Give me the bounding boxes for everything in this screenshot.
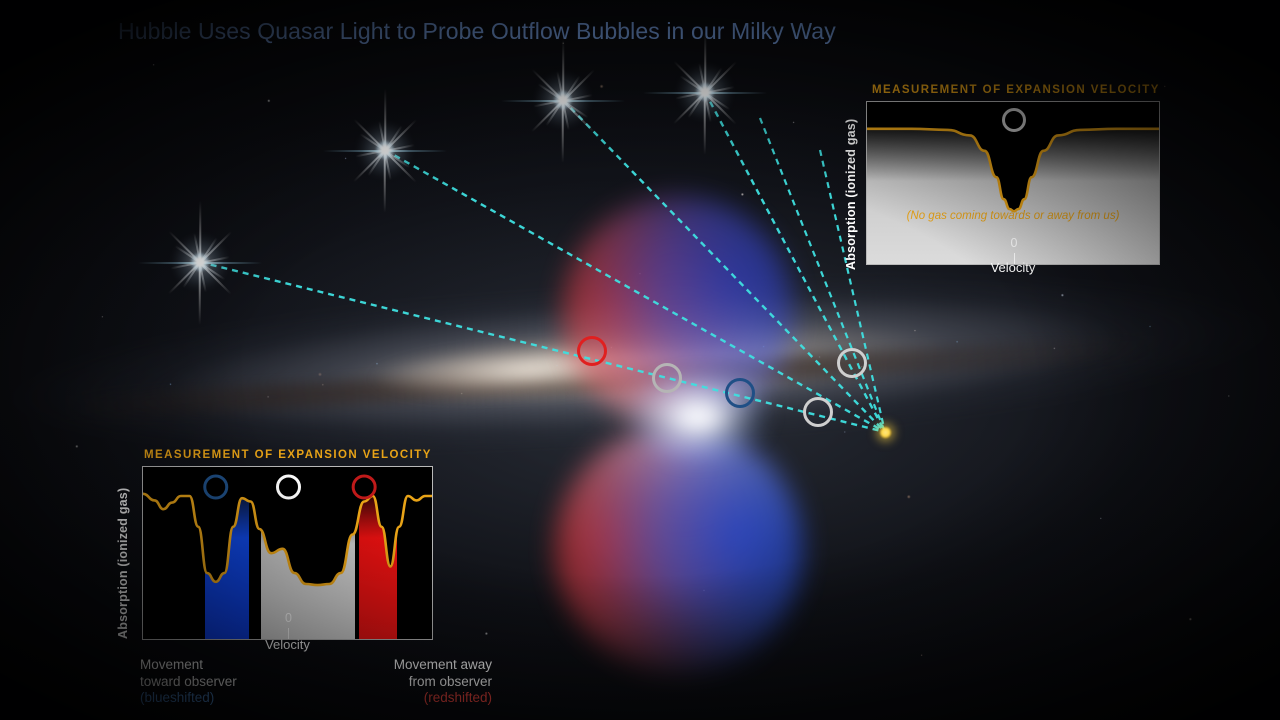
inset-bottom-zero-label: 0: [143, 611, 433, 625]
star-core: [696, 83, 714, 101]
caption-redshift-line2: from observer: [337, 674, 492, 691]
sightline-quasar-3: [563, 100, 885, 432]
inset-bottom-xlabel: Velocity: [142, 637, 433, 652]
star-core: [376, 141, 394, 159]
sightline-quasar-1: [200, 262, 885, 432]
star-core: [554, 91, 572, 109]
inset-top-zero-label: 0: [867, 236, 1160, 250]
caption-blueshift: Movement toward observer (blueshifted): [140, 657, 237, 707]
inset-panel-top: MEASUREMENT OF EXPANSION VELOCITY Absorp…: [866, 84, 1160, 265]
inset-bottom-title: MEASUREMENT OF EXPANSION VELOCITY: [144, 449, 433, 461]
inset-bottom-marker-blueshifted[interactable]: [205, 476, 227, 498]
marker-blueshifted[interactable]: [725, 378, 755, 408]
inset-top-xlabel: Velocity: [866, 260, 1160, 275]
marker-neutral-lower[interactable]: [803, 397, 833, 427]
illustration-stage: MEASUREMENT OF EXPANSION VELOCITY Absorp…: [0, 0, 1280, 720]
marker-neutral-outer[interactable]: [837, 348, 867, 378]
inset-bottom-marker-redshifted[interactable]: [353, 476, 375, 498]
marker-neutral-upper[interactable]: [652, 363, 682, 393]
caption-redshift-line1: Movement away: [337, 657, 492, 674]
caption-redshift: Movement away from observer (redshifted): [337, 657, 492, 707]
page-title: Hubble Uses Quasar Light to Probe Outflo…: [118, 18, 836, 45]
caption-blueshift-line3: (blueshifted): [140, 690, 237, 707]
inset-top-ylabel: Absorption (ionized gas): [844, 110, 858, 270]
inset-bottom-ylabel: Absorption (ionized gas): [116, 471, 130, 639]
inset-bottom-plot: 0: [142, 466, 433, 640]
inset-top-title: MEASUREMENT OF EXPANSION VELOCITY: [872, 84, 1160, 96]
caption-blueshift-line2: toward observer: [140, 674, 237, 691]
inset-top-marker-neutral[interactable]: [1004, 110, 1025, 131]
sun-observer-dot: [879, 426, 892, 439]
star-core: [191, 253, 209, 271]
inset-top-note: (No gas coming towards or away from us): [867, 210, 1159, 222]
inset-top-plot: (No gas coming towards or away from us) …: [866, 101, 1160, 265]
caption-redshift-line3: (redshifted): [337, 690, 492, 707]
inset-bottom-marker-neutral[interactable]: [278, 476, 300, 498]
inset-panel-bottom: MEASUREMENT OF EXPANSION VELOCITY Absorp…: [142, 449, 433, 640]
marker-redshifted[interactable]: [577, 336, 607, 366]
caption-blueshift-line1: Movement: [140, 657, 237, 674]
